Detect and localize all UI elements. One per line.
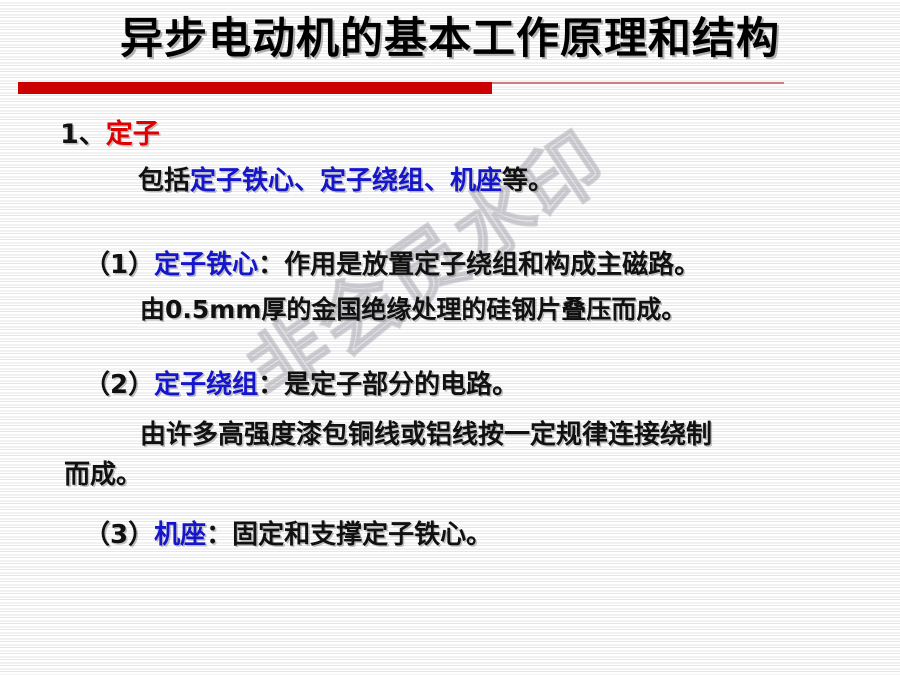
list-item-2-term: 定子绕组 bbox=[154, 370, 258, 400]
list-item-1-marker: （1） bbox=[84, 250, 154, 280]
list-item-1-continuation: 由0.5mm厚的金国绝缘处理的硅钢片叠压而成。 bbox=[140, 293, 686, 326]
summary-prefix: 包括 bbox=[138, 166, 190, 196]
slide-body: 1、定子 包括定子铁心、定子绕组、机座等。 （1）定子铁心：作用是放置定子绕组和… bbox=[0, 0, 900, 675]
list-item-2-wrap: 而成。 bbox=[64, 458, 142, 492]
list-item-3: （3）机座：固定和支撑定子铁心。 bbox=[84, 518, 492, 552]
list-item-3-colon: ： bbox=[206, 520, 232, 550]
list-item-3-term: 机座 bbox=[154, 520, 206, 550]
section-heading: 1、定子 bbox=[60, 118, 160, 152]
list-item-1: （1）定子铁心：作用是放置定子绕组和构成主磁路。 bbox=[84, 248, 700, 282]
list-item-2-colon: ： bbox=[258, 370, 284, 400]
list-item-2-marker: （2） bbox=[84, 370, 154, 400]
section-heading-number: 1、 bbox=[60, 119, 106, 150]
title-block: 异步电动机的基本工作原理和结构 bbox=[0, 12, 900, 74]
title-underline-thick bbox=[18, 82, 492, 94]
list-item-3-desc: 固定和支撑定子铁心。 bbox=[232, 520, 492, 550]
list-item-1-term: 定子铁心 bbox=[154, 250, 258, 280]
list-item-1-desc: 作用是放置定子绕组和构成主磁路。 bbox=[284, 250, 700, 280]
section-summary: 包括定子铁心、定子绕组、机座等。 bbox=[138, 164, 554, 198]
summary-terms: 定子铁心、定子绕组、机座 bbox=[190, 166, 502, 196]
list-item-2: （2）定子绕组：是定子部分的电路。 bbox=[84, 368, 518, 402]
summary-suffix: 等。 bbox=[502, 166, 554, 196]
list-item-1-colon: ： bbox=[258, 250, 284, 280]
page-title: 异步电动机的基本工作原理和结构 bbox=[0, 12, 900, 66]
list-item-2-continuation: 由许多高强度漆包铜线或铝线按一定规律连接绕制 bbox=[140, 418, 712, 452]
list-item-3-marker: （3） bbox=[84, 520, 154, 550]
slide-canvas: 非会员水印 异步电动机的基本工作原理和结构 1、定子 包括定子铁心、定子绕组、机… bbox=[0, 0, 900, 675]
section-heading-term: 定子 bbox=[106, 119, 160, 150]
list-item-2-desc: 是定子部分的电路。 bbox=[284, 370, 518, 400]
